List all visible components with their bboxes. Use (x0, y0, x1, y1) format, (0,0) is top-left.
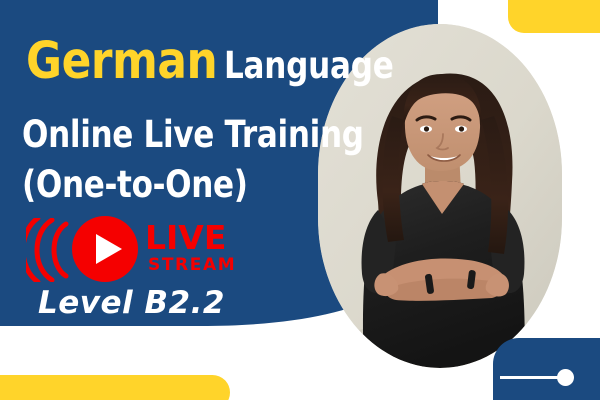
promo-poster: GermanLanguage Online Live Training (One… (0, 0, 600, 400)
broadcast-waves-icon (26, 218, 72, 287)
connector-dot (557, 369, 574, 386)
headline-line-2: Online Live Training (22, 116, 364, 153)
course-level-label: Level B2.2 (38, 288, 225, 319)
stream-label: STREAM (148, 257, 236, 274)
headline-secondary-word: Language (224, 47, 394, 84)
headline-line-3: (One-to-One) (22, 166, 248, 203)
yellow-rounded-bar-bottom-left (0, 375, 230, 400)
play-triangle-icon (96, 234, 122, 264)
headline-highlight-word: German (26, 36, 217, 87)
headline-line-1: GermanLanguage (26, 36, 426, 87)
live-label: LIVE (145, 221, 226, 254)
live-stream-badge: LIVE STREAM (26, 216, 226, 284)
navy-rounded-block-bottom-right (493, 338, 600, 400)
yellow-rounded-block-top-right (508, 0, 600, 33)
